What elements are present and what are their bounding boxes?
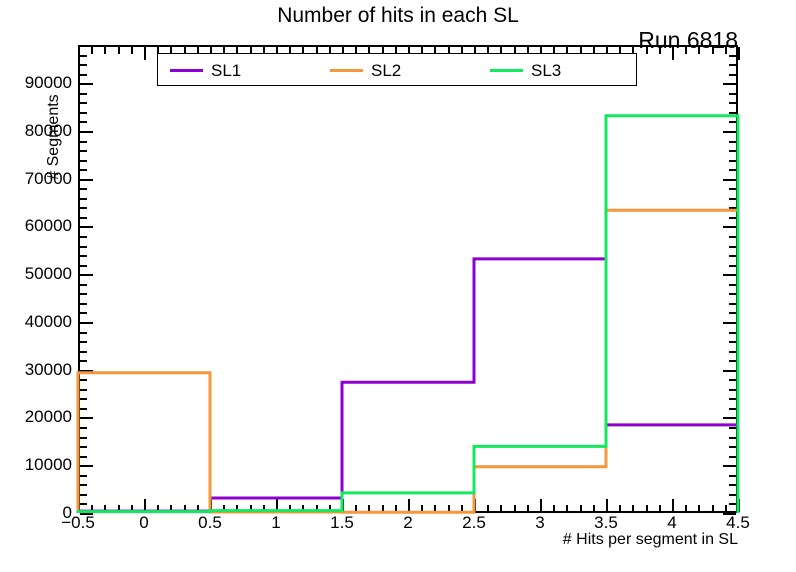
tick-mark: [729, 141, 736, 143]
tick-mark: [80, 112, 87, 114]
tick-mark: [80, 408, 87, 410]
tick-mark: [723, 465, 736, 467]
tick-mark: [80, 341, 87, 343]
tick-mark: [80, 246, 87, 248]
tick-mark: [461, 505, 463, 512]
tick-mark: [80, 379, 87, 381]
legend-item-sl2[interactable]: SL2: [330, 54, 401, 87]
legend: SL1SL2SL3: [157, 53, 637, 86]
tick-mark: [729, 351, 736, 353]
tick-mark: [729, 303, 736, 305]
tick-mark: [421, 505, 423, 512]
tick-mark: [80, 188, 87, 190]
tick-mark: [672, 47, 674, 60]
tick-mark: [729, 217, 736, 219]
tick-mark: [729, 379, 736, 381]
tick-mark: [131, 505, 133, 512]
legend-color-swatch: [330, 69, 363, 72]
tick-mark: [80, 93, 87, 95]
tick-mark: [342, 499, 344, 512]
tick-mark: [487, 505, 489, 512]
tick-mark: [723, 322, 736, 324]
chart-title: Number of hits in each SL: [0, 4, 796, 28]
plot-frame: [78, 45, 738, 513]
tick-mark: [729, 236, 736, 238]
tick-mark: [729, 74, 736, 76]
tick-mark: [408, 499, 410, 512]
tick-mark: [729, 102, 736, 104]
tick-mark: [395, 505, 397, 512]
tick-mark: [729, 246, 736, 248]
tick-mark: [632, 505, 634, 512]
tick-mark: [316, 505, 318, 512]
x-tick-label: 0.5: [198, 513, 222, 533]
tick-mark: [723, 131, 736, 133]
tick-mark: [91, 505, 93, 512]
tick-mark: [723, 226, 736, 228]
tick-mark: [80, 64, 87, 66]
x-tick-label: 3.5: [594, 513, 618, 533]
tick-mark: [729, 55, 736, 57]
tick-mark: [276, 499, 278, 512]
tick-mark: [157, 505, 159, 512]
tick-mark: [646, 47, 648, 54]
tick-mark: [144, 499, 146, 512]
y-axis-tick-labels: 0100002000030000400005000060000700008000…: [0, 0, 72, 572]
tick-mark: [80, 303, 87, 305]
y-tick-label: 40000: [25, 312, 72, 332]
tick-mark: [80, 198, 87, 200]
tick-mark: [725, 47, 727, 54]
tick-mark: [729, 332, 736, 334]
x-tick-label: −0.5: [61, 513, 95, 533]
tick-mark: [289, 505, 291, 512]
tick-mark: [144, 47, 146, 60]
tick-mark: [729, 198, 736, 200]
tick-mark: [80, 312, 87, 314]
tick-mark: [725, 505, 727, 512]
tick-mark: [500, 505, 502, 512]
tick-mark: [729, 484, 736, 486]
tick-mark: [723, 513, 736, 515]
tick-mark: [355, 505, 357, 512]
tick-mark: [514, 505, 516, 512]
tick-mark: [91, 47, 93, 54]
tick-mark: [78, 47, 80, 60]
tick-mark: [723, 274, 736, 276]
tick-mark: [729, 45, 736, 47]
tick-mark: [329, 505, 331, 512]
tick-mark: [553, 505, 555, 512]
tick-mark: [729, 284, 736, 286]
tick-mark: [80, 494, 87, 496]
y-tick-label: 90000: [25, 73, 72, 93]
tick-mark: [80, 465, 93, 467]
tick-mark: [302, 505, 304, 512]
tick-mark: [80, 236, 87, 238]
tick-mark: [729, 475, 736, 477]
tick-mark: [729, 427, 736, 429]
y-tick-label: 70000: [25, 169, 72, 189]
tick-mark: [382, 505, 384, 512]
legend-label: SL3: [531, 61, 561, 81]
tick-mark: [80, 207, 87, 209]
legend-color-swatch: [490, 69, 523, 72]
tick-mark: [80, 45, 87, 47]
tick-mark: [104, 505, 106, 512]
tick-mark: [78, 499, 80, 512]
tick-mark: [118, 47, 120, 54]
tick-mark: [80, 217, 87, 219]
tick-mark: [236, 505, 238, 512]
tick-mark: [729, 494, 736, 496]
tick-mark: [80, 255, 87, 257]
legend-color-swatch: [170, 69, 203, 72]
tick-mark: [250, 505, 252, 512]
tick-mark: [593, 505, 595, 512]
tick-mark: [738, 499, 740, 512]
tick-mark: [606, 499, 608, 512]
tick-mark: [729, 121, 736, 123]
x-tick-label: 4: [667, 513, 676, 533]
tick-mark: [80, 121, 87, 123]
tick-mark: [80, 513, 93, 515]
x-tick-label: 1: [271, 513, 280, 533]
tick-mark: [672, 499, 674, 512]
tick-mark: [729, 456, 736, 458]
y-tick-label: 20000: [25, 407, 72, 427]
tick-mark: [474, 499, 476, 512]
tick-mark: [184, 505, 186, 512]
tick-mark: [729, 293, 736, 295]
tick-mark: [729, 169, 736, 171]
tick-mark: [80, 265, 87, 267]
tick-mark: [729, 360, 736, 362]
tick-mark: [448, 505, 450, 512]
y-tick-label: 50000: [25, 264, 72, 284]
legend-item-sl3[interactable]: SL3: [490, 54, 561, 87]
legend-label: SL1: [211, 61, 241, 81]
tick-mark: [80, 370, 93, 372]
tick-mark: [80, 398, 87, 400]
x-tick-label: 2.5: [462, 513, 486, 533]
legend-label: SL2: [371, 61, 401, 81]
tick-mark: [80, 351, 87, 353]
tick-mark: [80, 150, 87, 152]
tick-mark: [729, 389, 736, 391]
tick-mark: [80, 389, 87, 391]
tick-mark: [131, 47, 133, 54]
x-tick-label: 1.5: [330, 513, 354, 533]
tick-mark: [723, 83, 736, 85]
tick-mark: [80, 437, 87, 439]
tick-mark: [729, 437, 736, 439]
tick-mark: [712, 47, 714, 54]
tick-mark: [729, 503, 736, 505]
tick-mark: [729, 446, 736, 448]
tick-mark: [80, 141, 87, 143]
y-tick-label: 60000: [25, 216, 72, 236]
tick-mark: [80, 332, 87, 334]
tick-mark: [80, 484, 87, 486]
tick-mark: [80, 322, 93, 324]
y-tick-label: 80000: [25, 121, 72, 141]
tick-mark: [729, 341, 736, 343]
tick-mark: [729, 408, 736, 410]
tick-mark: [223, 505, 225, 512]
tick-mark: [80, 179, 93, 181]
tick-mark: [619, 505, 621, 512]
tick-mark: [698, 47, 700, 54]
tick-mark: [104, 47, 106, 54]
tick-mark: [80, 456, 87, 458]
tick-mark: [80, 503, 87, 505]
tick-mark: [80, 293, 87, 295]
tick-mark: [80, 446, 87, 448]
tick-mark: [729, 150, 736, 152]
tick-mark: [210, 499, 212, 512]
tick-mark: [659, 47, 661, 54]
tick-mark: [729, 312, 736, 314]
tick-mark: [80, 274, 93, 276]
tick-mark: [723, 370, 736, 372]
tick-mark: [646, 505, 648, 512]
tick-mark: [118, 505, 120, 512]
tick-mark: [80, 55, 87, 57]
tick-mark: [580, 505, 582, 512]
x-tick-label: 4.5: [726, 513, 750, 533]
legend-item-sl1[interactable]: SL1: [170, 54, 241, 87]
tick-mark: [712, 505, 714, 512]
tick-mark: [729, 112, 736, 114]
tick-mark: [566, 505, 568, 512]
tick-mark: [723, 417, 736, 419]
tick-mark: [80, 417, 93, 419]
tick-mark: [80, 131, 93, 133]
tick-mark: [80, 360, 87, 362]
x-tick-label: 2: [403, 513, 412, 533]
tick-mark: [738, 47, 740, 60]
tick-mark: [729, 93, 736, 95]
tick-mark: [80, 284, 87, 286]
tick-mark: [368, 505, 370, 512]
tick-mark: [729, 265, 736, 267]
tick-mark: [729, 160, 736, 162]
tick-mark: [540, 499, 542, 512]
tick-mark: [729, 207, 736, 209]
tick-mark: [685, 505, 687, 512]
tick-mark: [729, 398, 736, 400]
tick-mark: [197, 505, 199, 512]
tick-mark: [527, 505, 529, 512]
tick-mark: [80, 102, 87, 104]
tick-mark: [80, 475, 87, 477]
tick-mark: [685, 47, 687, 54]
tick-mark: [723, 179, 736, 181]
tick-mark: [434, 505, 436, 512]
tick-mark: [659, 505, 661, 512]
tick-mark: [729, 255, 736, 257]
tick-mark: [80, 160, 87, 162]
tick-mark: [80, 427, 87, 429]
tick-mark: [80, 226, 93, 228]
x-tick-label: 0: [139, 513, 148, 533]
x-tick-label: 3: [535, 513, 544, 533]
chart-canvas: Number of hits in each SL Run 6818 # Seg…: [0, 0, 796, 572]
tick-mark: [729, 188, 736, 190]
tick-mark: [170, 505, 172, 512]
y-tick-label: 10000: [25, 455, 72, 475]
tick-mark: [80, 74, 87, 76]
x-axis-title: # Hits per segment in SL: [563, 531, 738, 549]
tick-mark: [698, 505, 700, 512]
y-tick-label: 30000: [25, 360, 72, 380]
tick-mark: [80, 83, 93, 85]
tick-mark: [729, 64, 736, 66]
tick-mark: [80, 169, 87, 171]
tick-mark: [263, 505, 265, 512]
